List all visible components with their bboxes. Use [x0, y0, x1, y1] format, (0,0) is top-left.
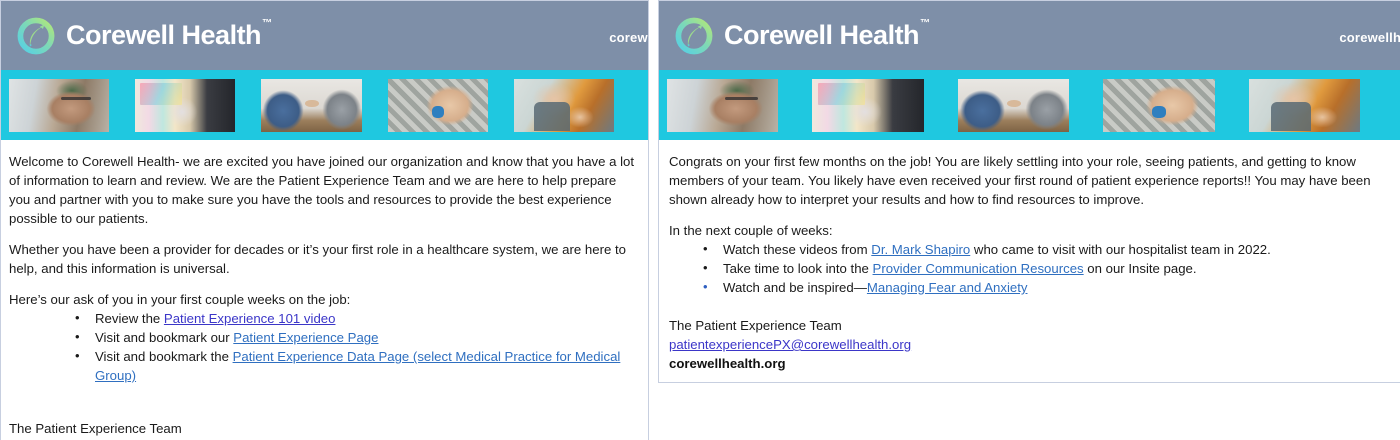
list-item: Review the Patient Experience 101 video	[75, 309, 638, 328]
photo-staff-member-with-hi-chemo-sign	[135, 79, 235, 132]
email-body-welcome: Welcome to Corewell Health- we are excit…	[1, 140, 648, 440]
brand-name: Corewell Health™	[66, 22, 271, 49]
link-provider-communication-resources[interactable]: Provider Communication Resources	[873, 261, 1084, 276]
photo-strip	[1, 70, 648, 140]
first-months-signature-site: corewellhealth.org	[669, 354, 1388, 373]
corewell-health-logo-icon	[17, 17, 55, 55]
photo-child-with-glasses-and-toy	[1103, 79, 1214, 132]
brand-header: Corewell Health™ corewellhea	[659, 1, 1400, 70]
signature-spacer	[669, 297, 1388, 316]
bullet-prefix-text: Review the	[95, 311, 164, 326]
brand-name-text: Corewell Health	[724, 20, 919, 50]
email-body-first-months: Congrats on your first few months on the…	[659, 140, 1400, 383]
screenshot-canvas: Corewell Health™ corewellh Welcome to Co…	[0, 0, 1400, 440]
welcome-paragraph-1: Welcome to Corewell Health- we are excit…	[9, 152, 638, 228]
photo-provider-with-parent-and-infant	[514, 79, 614, 132]
brand-url-label: corewellh	[609, 30, 649, 45]
list-item: Visit and bookmark our Patient Experienc…	[75, 328, 638, 347]
photo-strip	[659, 70, 1400, 140]
bullet-prefix-text: Watch and be inspired—	[723, 280, 867, 295]
brand-name-text: Corewell Health	[66, 20, 261, 50]
list-item: Watch these videos from Dr. Mark Shapiro…	[703, 240, 1388, 259]
list-item: Visit and bookmark the Patient Experienc…	[75, 347, 638, 385]
bullet-suffix-text: who came to visit with our hospitalist t…	[970, 242, 1271, 257]
photo-staff-member-with-hi-chemo-sign	[812, 79, 923, 132]
link-managing-fear-and-anxiety[interactable]: Managing Fear and Anxiety	[867, 280, 1028, 295]
corewell-health-logo-icon	[675, 17, 713, 55]
first-months-signature-email-line: patientexperiencePX@corewellhealth.org	[669, 335, 1388, 354]
photo-clinician-fist-bump-with-patient	[958, 79, 1069, 132]
email-panel-first-months: Corewell Health™ corewellhea Congrats on…	[658, 0, 1400, 383]
link-patient-experience-101-video[interactable]: Patient Experience 101 video	[164, 311, 336, 326]
photo-patient-with-glasses-and-head-wrap	[9, 79, 109, 132]
bullet-suffix-text: on our Insite page.	[1084, 261, 1197, 276]
bullet-prefix-text: Take time to look into the	[723, 261, 873, 276]
link-patient-experience-email[interactable]: patientexperiencePX@corewellhealth.org	[669, 337, 911, 352]
signature-spacer	[9, 385, 638, 419]
link-patient-experience-page[interactable]: Patient Experience Page	[233, 330, 378, 345]
first-months-paragraph-2: In the next couple of weeks:	[669, 221, 1388, 240]
photo-clinician-fist-bump-with-patient	[261, 79, 361, 132]
first-months-action-list: Watch these videos from Dr. Mark Shapiro…	[669, 240, 1388, 297]
welcome-signature-name: The Patient Experience Team	[9, 419, 638, 438]
list-item: Watch and be inspired—Managing Fear and …	[703, 278, 1388, 297]
brand-url-label: corewellhea	[1339, 30, 1400, 45]
bullet-prefix-text: Visit and bookmark the	[95, 349, 233, 364]
first-months-signature-name: The Patient Experience Team	[669, 316, 1388, 335]
brand-lockup: Corewell Health™	[675, 17, 929, 55]
brand-header: Corewell Health™ corewellh	[1, 1, 648, 70]
brand-name: Corewell Health™	[724, 22, 929, 49]
trademark-symbol: ™	[920, 18, 930, 29]
email-panel-welcome: Corewell Health™ corewellh Welcome to Co…	[0, 0, 649, 440]
welcome-paragraph-3: Here’s our ask of you in your first coup…	[9, 290, 638, 309]
welcome-paragraph-2: Whether you have been a provider for dec…	[9, 240, 638, 278]
trademark-symbol: ™	[262, 18, 272, 29]
brand-lockup: Corewell Health™	[17, 17, 271, 55]
first-months-paragraph-1: Congrats on your first few months on the…	[669, 152, 1388, 209]
bullet-prefix-text: Visit and bookmark our	[95, 330, 233, 345]
photo-patient-with-glasses-and-head-wrap	[667, 79, 778, 132]
photo-provider-with-parent-and-infant	[1249, 79, 1360, 132]
welcome-action-list: Review the Patient Experience 101 video …	[9, 309, 638, 385]
link-dr-mark-shapiro[interactable]: Dr. Mark Shapiro	[871, 242, 970, 257]
photo-child-with-glasses-and-toy	[388, 79, 488, 132]
bullet-prefix-text: Watch these videos from	[723, 242, 871, 257]
list-item: Take time to look into the Provider Comm…	[703, 259, 1388, 278]
